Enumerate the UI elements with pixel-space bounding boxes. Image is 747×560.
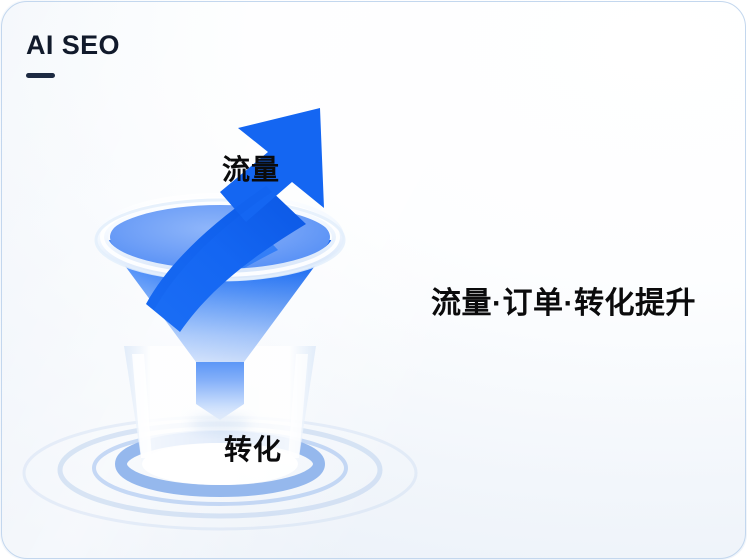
tagline-text: 流量·订单·转化提升 [431, 278, 696, 322]
poster-canvas: AI SEO 流量·订单·转化提升 [0, 0, 747, 560]
funnel-label-traffic: 流量 [222, 148, 280, 188]
funnel-label-conversion: 转化 [224, 428, 282, 468]
title-underline-accent [26, 73, 55, 78]
funnel-illustration: 流量 转化 [20, 90, 440, 530]
page-title: AI SEO [26, 32, 120, 59]
header: AI SEO [26, 32, 120, 78]
